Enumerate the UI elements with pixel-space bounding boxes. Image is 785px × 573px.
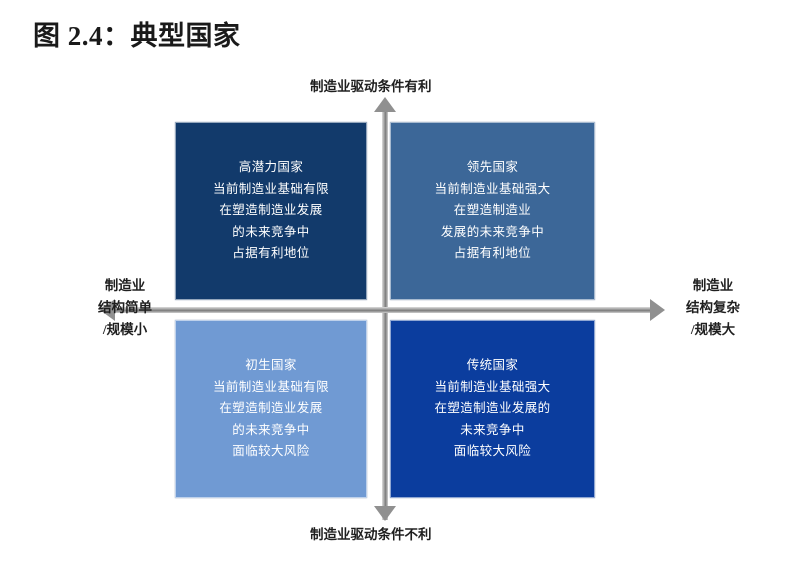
quadrant-matrix: 高潜力国家 当前制造业基础有限 在塑造制造业发展 的未来竞争中 占据有利地位 领… xyxy=(175,122,595,498)
quadrant-line: 在塑造制造业发展 xyxy=(219,398,322,420)
quadrant-line: 占据有利地位 xyxy=(232,243,309,265)
axis-label-right-line-3: /规模大 xyxy=(668,319,758,341)
axis-label-left-line-1: 制造业 xyxy=(80,275,170,297)
axis-label-left: 制造业 结构简单 /规模小 xyxy=(80,275,170,341)
axis-label-right: 制造业 结构复杂 /规模大 xyxy=(668,275,758,341)
quadrant-line: 未来竞争中 xyxy=(460,420,525,442)
quadrant-nascent[interactable]: 初生国家 当前制造业基础有限 在塑造制造业发展 的未来竞争中 面临较大风险 xyxy=(175,320,367,498)
quadrant-line: 的未来竞争中 xyxy=(232,222,309,244)
quadrant-line: 在塑造制造业 xyxy=(454,200,531,222)
quadrant-line: 当前制造业基础有限 xyxy=(213,179,329,201)
axis-label-left-line-3: /规模小 xyxy=(80,319,170,341)
quadrant-traditional[interactable]: 传统国家 当前制造业基础强大 在塑造制造业发展的 未来竞争中 面临较大风险 xyxy=(390,320,595,498)
quadrant-line: 当前制造业基础强大 xyxy=(434,377,550,399)
quadrant-line: 面临较大风险 xyxy=(232,441,309,463)
quadrant-leading[interactable]: 领先国家 当前制造业基础强大 在塑造制造业 发展的未来竞争中 占据有利地位 xyxy=(390,122,595,300)
axis-label-left-line-2: 结构简单 xyxy=(80,297,170,319)
axis-label-bottom: 制造业驱动条件不利 xyxy=(310,524,432,546)
quadrant-high-potential[interactable]: 高潜力国家 当前制造业基础有限 在塑造制造业发展 的未来竞争中 占据有利地位 xyxy=(175,122,367,300)
arrow-down-icon xyxy=(374,506,396,521)
quadrant-line: 当前制造业基础强大 xyxy=(434,179,550,201)
arrow-right-icon xyxy=(650,299,665,321)
quadrant-title: 初生国家 xyxy=(245,355,297,377)
quadrant-line: 的未来竞争中 xyxy=(232,420,309,442)
page-title: 图 2.4：典型国家 xyxy=(33,14,241,53)
quadrant-title: 高潜力国家 xyxy=(239,157,304,179)
quadrant-line: 占据有利地位 xyxy=(454,243,531,265)
axis-label-right-line-1: 制造业 xyxy=(668,275,758,297)
arrow-up-icon xyxy=(374,97,396,112)
quadrant-title: 领先国家 xyxy=(467,157,519,179)
quadrant-title: 传统国家 xyxy=(467,355,519,377)
quadrant-line: 在塑造制造业发展的 xyxy=(434,398,550,420)
quadrant-line: 发展的未来竞争中 xyxy=(441,222,544,244)
axis-label-top: 制造业驱动条件有利 xyxy=(310,76,432,98)
quadrant-line: 当前制造业基础有限 xyxy=(213,377,329,399)
quadrant-line: 面临较大风险 xyxy=(454,441,531,463)
axis-label-right-line-2: 结构复杂 xyxy=(668,297,758,319)
quadrant-line: 在塑造制造业发展 xyxy=(219,200,322,222)
